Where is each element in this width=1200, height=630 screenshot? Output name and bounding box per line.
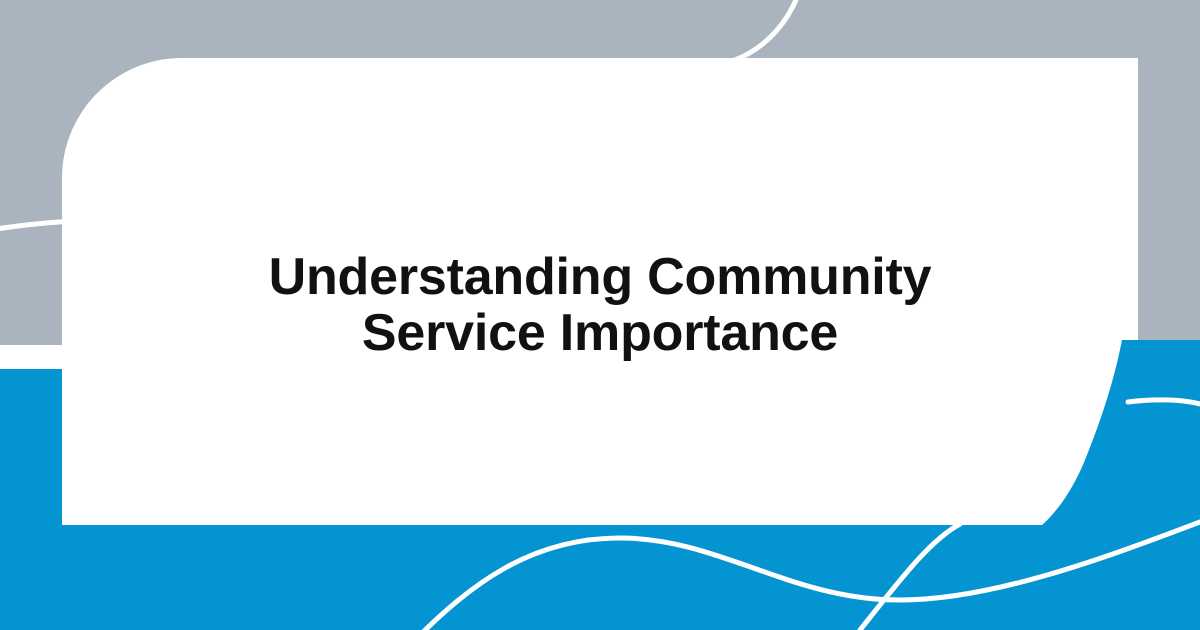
social-card-canvas: Understanding Community Service Importan… xyxy=(0,0,1200,630)
title-block: Understanding Community Service Importan… xyxy=(62,250,1138,361)
page-title: Understanding Community Service Importan… xyxy=(200,250,1000,361)
